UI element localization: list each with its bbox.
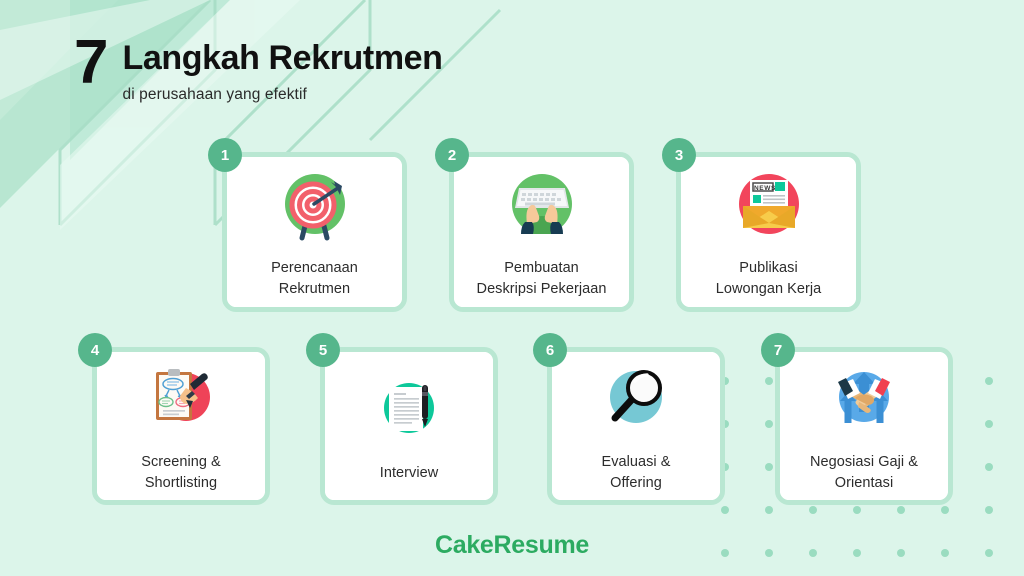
target-dartboard-icon <box>276 168 354 246</box>
step-card-4[interactable]: 4 <box>92 347 270 505</box>
page-subtitle: di perusahaan yang efektif <box>122 86 442 104</box>
step-card-body-7: Negosiasi Gaji & Orientasi <box>780 352 948 500</box>
step-badge-4: 4 <box>78 333 112 367</box>
step-card-7[interactable]: 7 <box>775 347 953 505</box>
step-badge-5: 5 <box>306 333 340 367</box>
step-label-2: Pembuatan Deskripsi Pekerjaan <box>469 258 615 299</box>
step-card-body-6: Evaluasi & Offering <box>552 352 720 500</box>
step-badge-3: 3 <box>662 138 696 172</box>
infographic-canvas: 7 Langkah Rekrutmen di perusahaan yang e… <box>0 0 1024 576</box>
step-badge-7: 7 <box>761 333 795 367</box>
step-label-3: Publikasi Lowongan Kerja <box>708 258 830 299</box>
step-card-body-2: Pembuatan Deskripsi Pekerjaan <box>454 157 629 307</box>
step-label-7: Negosiasi Gaji & Orientasi <box>802 452 926 493</box>
step-card-body-5: Interview <box>325 352 493 500</box>
step-label-5: Interview <box>372 463 446 484</box>
step-card-6[interactable]: 6 Evaluasi & Offering <box>547 347 725 505</box>
step-card-1[interactable]: 1 Perencanaan Rekrutmen <box>222 152 407 312</box>
step-card-body-1: Perencanaan Rekrutmen <box>227 157 402 307</box>
step-badge-1: 1 <box>208 138 242 172</box>
step-badge-6: 6 <box>533 333 567 367</box>
step-label-4: Screening & Shortlisting <box>133 452 229 493</box>
handshake-growth-icon <box>825 362 903 440</box>
page-title: Langkah Rekrutmen <box>122 40 442 77</box>
step-label-6: Evaluasi & Offering <box>593 452 678 493</box>
step-label-1: Perencanaan Rekrutmen <box>263 258 366 299</box>
document-pen-icon <box>370 373 448 451</box>
step-card-body-4: Screening & Shortlisting <box>97 352 265 500</box>
hands-typing-keyboard-icon <box>503 168 581 246</box>
clipboard-review-pen-icon <box>142 362 220 440</box>
header: 7 Langkah Rekrutmen di perusahaan yang e… <box>74 34 443 104</box>
magnifying-glass-icon <box>597 362 675 440</box>
step-count-number: 7 <box>74 34 106 93</box>
cakeresume-logo: CakeResume <box>0 531 1024 560</box>
title-block: Langkah Rekrutmen di perusahaan yang efe… <box>122 34 442 104</box>
svg-text:NEWS: NEWS <box>754 185 776 192</box>
step-card-5[interactable]: 5 <box>320 347 498 505</box>
step-card-3[interactable]: 3 NEWS <box>676 152 861 312</box>
news-envelope-icon: NEWS <box>730 168 808 246</box>
step-card-body-3: NEWS <box>681 157 856 307</box>
step-badge-2: 2 <box>435 138 469 172</box>
step-card-2[interactable]: 2 <box>449 152 634 312</box>
